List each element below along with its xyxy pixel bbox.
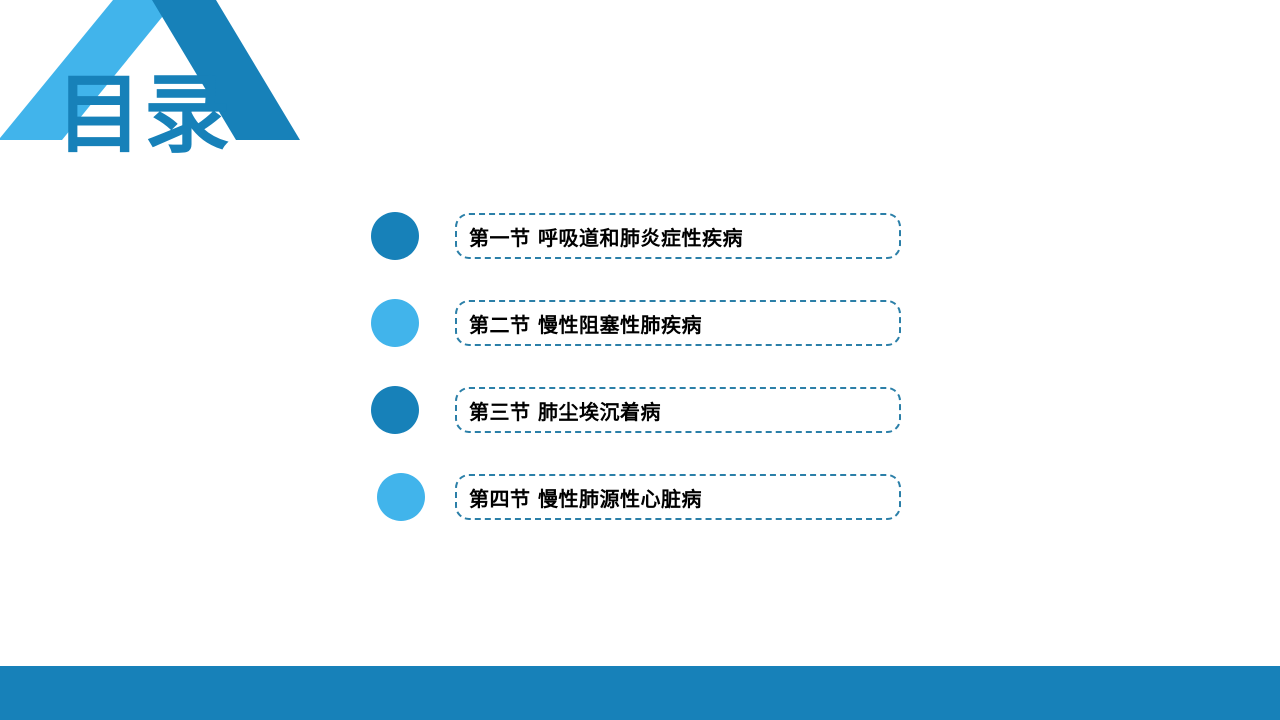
toc-item-box[interactable]: 第一节 呼吸道和肺炎症性疾病 [455,213,901,259]
toc-item-label: 第四节 慢性肺源性心脏病 [457,483,702,512]
toc-row[interactable]: 第四节 慢性肺源性心脏病 [377,473,901,521]
toc-item-box[interactable]: 第三节 肺尘埃沉着病 [455,387,901,433]
toc-row[interactable]: 第一节 呼吸道和肺炎症性疾病 [371,212,901,260]
toc-item-label: 第一节 呼吸道和肺炎症性疾病 [457,222,743,251]
toc-item-box[interactable]: 第四节 慢性肺源性心脏病 [455,474,901,520]
bullet-circle-icon [371,386,419,434]
footer-bar [0,666,1280,720]
toc-row[interactable]: 第三节 肺尘埃沉着病 [371,386,901,434]
bullet-circle-icon [377,473,425,521]
slide-root: 目录 第一节 呼吸道和肺炎症性疾病 第二节 慢性阻塞性肺疾病 第三节 肺尘埃沉着… [0,0,1280,720]
toc-list: 第一节 呼吸道和肺炎症性疾病 第二节 慢性阻塞性肺疾病 第三节 肺尘埃沉着病 第… [371,212,901,521]
toc-item-box[interactable]: 第二节 慢性阻塞性肺疾病 [455,300,901,346]
bullet-circle-icon [371,299,419,347]
toc-row[interactable]: 第二节 慢性阻塞性肺疾病 [371,299,901,347]
page-title: 目录 [56,72,232,158]
bullet-circle-icon [371,212,419,260]
toc-item-label: 第二节 慢性阻塞性肺疾病 [457,309,702,338]
toc-item-label: 第三节 肺尘埃沉着病 [457,396,661,425]
